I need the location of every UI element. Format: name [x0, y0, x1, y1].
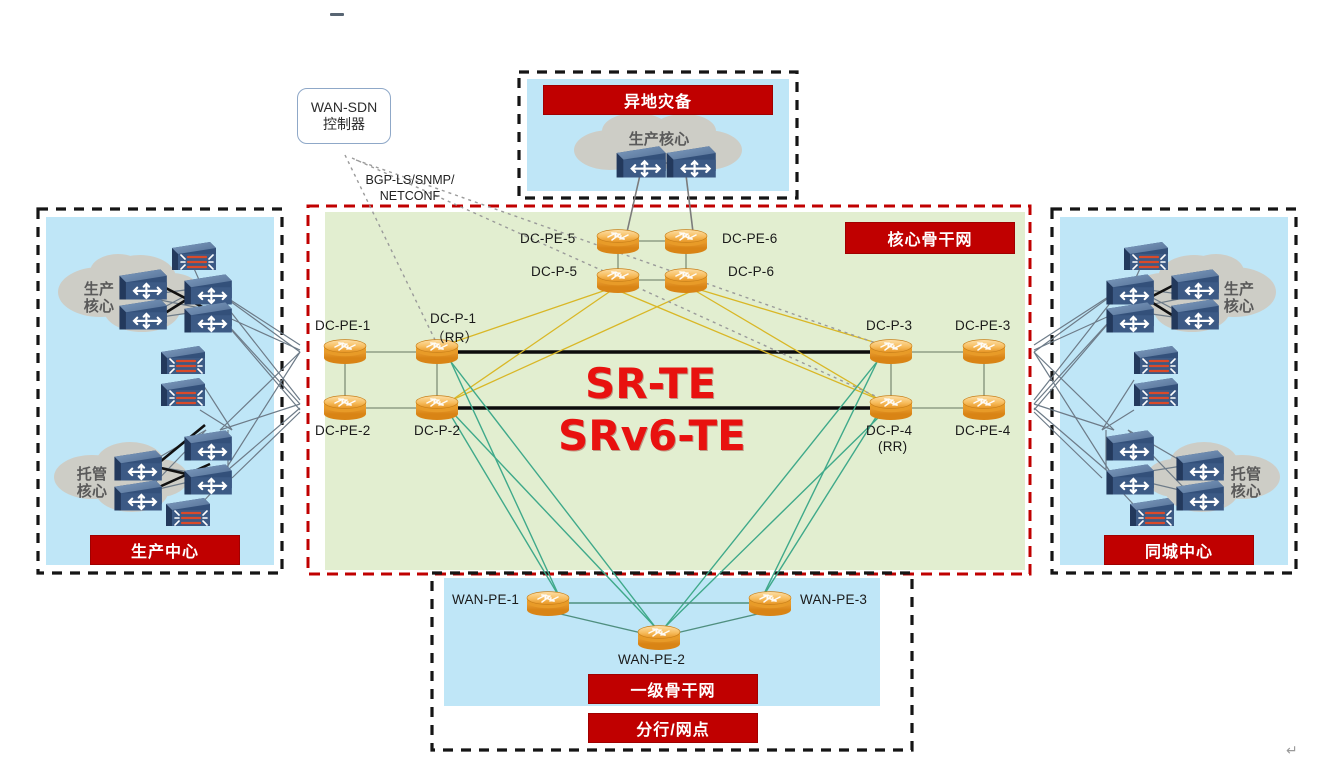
router-icon-wan-pe-1: [527, 592, 569, 616]
label-dc-p-1-sub: （RR）: [431, 326, 478, 346]
label-dc-p-2: DC-P-2: [414, 423, 460, 438]
label-dc-p-1: DC-P-1: [430, 311, 476, 326]
label-wan-pe-1: WAN-PE-1: [452, 592, 519, 607]
router-icon-dc-pe-1: [324, 340, 366, 364]
label-dc-p-5: DC-P-5: [531, 264, 577, 279]
banner-dr-site: 异地灾备: [543, 85, 773, 115]
cloud-label-dr-top: 生产核心: [614, 131, 704, 148]
router-icon-dc-pe-3: [963, 340, 1005, 364]
cloud-label-prod-right: 生产 核心: [1207, 281, 1271, 316]
cloud-label-host-left: 托管 核心: [60, 466, 124, 501]
router-icon-wan-pe-3: [749, 592, 791, 616]
controller-line-2: 控制器: [323, 116, 365, 134]
cloud-text-line1: 托管: [60, 466, 124, 483]
router-icon-wan-pe-2: [638, 626, 680, 650]
banner-branch-sites: 分行/网点: [588, 713, 758, 743]
protocol-label: BGP-LS/SNMP/ NETCONF: [340, 172, 480, 205]
label-dc-pe-2: DC-PE-2: [315, 423, 370, 438]
cloud-text-line1: 生产: [1207, 281, 1271, 298]
label-dc-pe-5: DC-PE-5: [520, 231, 575, 246]
cloud-text-line2: 核心: [1214, 483, 1278, 500]
srte-overlay-label: SR-TE: [585, 359, 716, 408]
router-icon-dc-p-2: [416, 396, 458, 420]
label-dc-p-3: DC-P-3: [866, 318, 912, 333]
cloud-text-line2: 核心: [1207, 298, 1271, 315]
label-dc-p-4: DC-P-4: [866, 423, 912, 438]
label-dc-p-6: DC-P-6: [728, 264, 774, 279]
protocol-line-1: BGP-LS/SNMP/: [340, 172, 480, 188]
controller-line-1: WAN-SDN: [311, 99, 377, 117]
label-wan-pe-2: WAN-PE-2: [618, 652, 685, 667]
router-icon-dc-pe-2: [324, 396, 366, 420]
banner-metro-center: 同城中心: [1104, 535, 1254, 565]
cloud-text-line2: 核心: [60, 483, 124, 500]
cloud-text-line2: 核心: [67, 298, 131, 315]
cloud-text-line1: 生产: [67, 281, 131, 298]
pilcrow-mark: ↵: [1286, 742, 1298, 759]
router-icon-dc-p-6: [665, 269, 707, 293]
banner-tier1-backbone: 一级骨干网: [588, 674, 758, 704]
banner-core-backbone: 核心骨干网: [845, 222, 1015, 254]
cloud-text-line1: 生产核心: [614, 131, 704, 148]
router-icon-dc-p-4: [870, 396, 912, 420]
label-dc-pe-3: DC-PE-3: [955, 318, 1010, 333]
stray-mark: [330, 13, 344, 16]
label-dc-pe-1: DC-PE-1: [315, 318, 370, 333]
router-icon-dc-pe-5: [597, 230, 639, 254]
wan-sdn-controller[interactable]: WAN-SDN 控制器: [297, 88, 391, 144]
cloud-text-line1: 托管: [1214, 466, 1278, 483]
label-dc-pe-6: DC-PE-6: [722, 231, 777, 246]
label-dc-pe-4: DC-PE-4: [955, 423, 1010, 438]
srv6te-overlay-label: SRv6-TE: [558, 411, 746, 460]
router-icon-dc-p-5: [597, 269, 639, 293]
protocol-line-2: NETCONF: [340, 188, 480, 204]
network-diagram-canvas: WAN-SDN 控制器 BGP-LS/SNMP/ NETCONF SR-TE S…: [0, 0, 1338, 783]
router-icon-dc-p-3: [870, 340, 912, 364]
router-icon-dc-pe-6: [665, 230, 707, 254]
label-dc-p-4-sub: (RR): [878, 439, 907, 454]
cloud-label-host-right: 托管 核心: [1214, 466, 1278, 501]
label-wan-pe-3: WAN-PE-3: [800, 592, 867, 607]
router-icon-dc-pe-4: [963, 396, 1005, 420]
banner-production-center: 生产中心: [90, 535, 240, 565]
cloud-label-prod-left: 生产 核心: [67, 281, 131, 316]
